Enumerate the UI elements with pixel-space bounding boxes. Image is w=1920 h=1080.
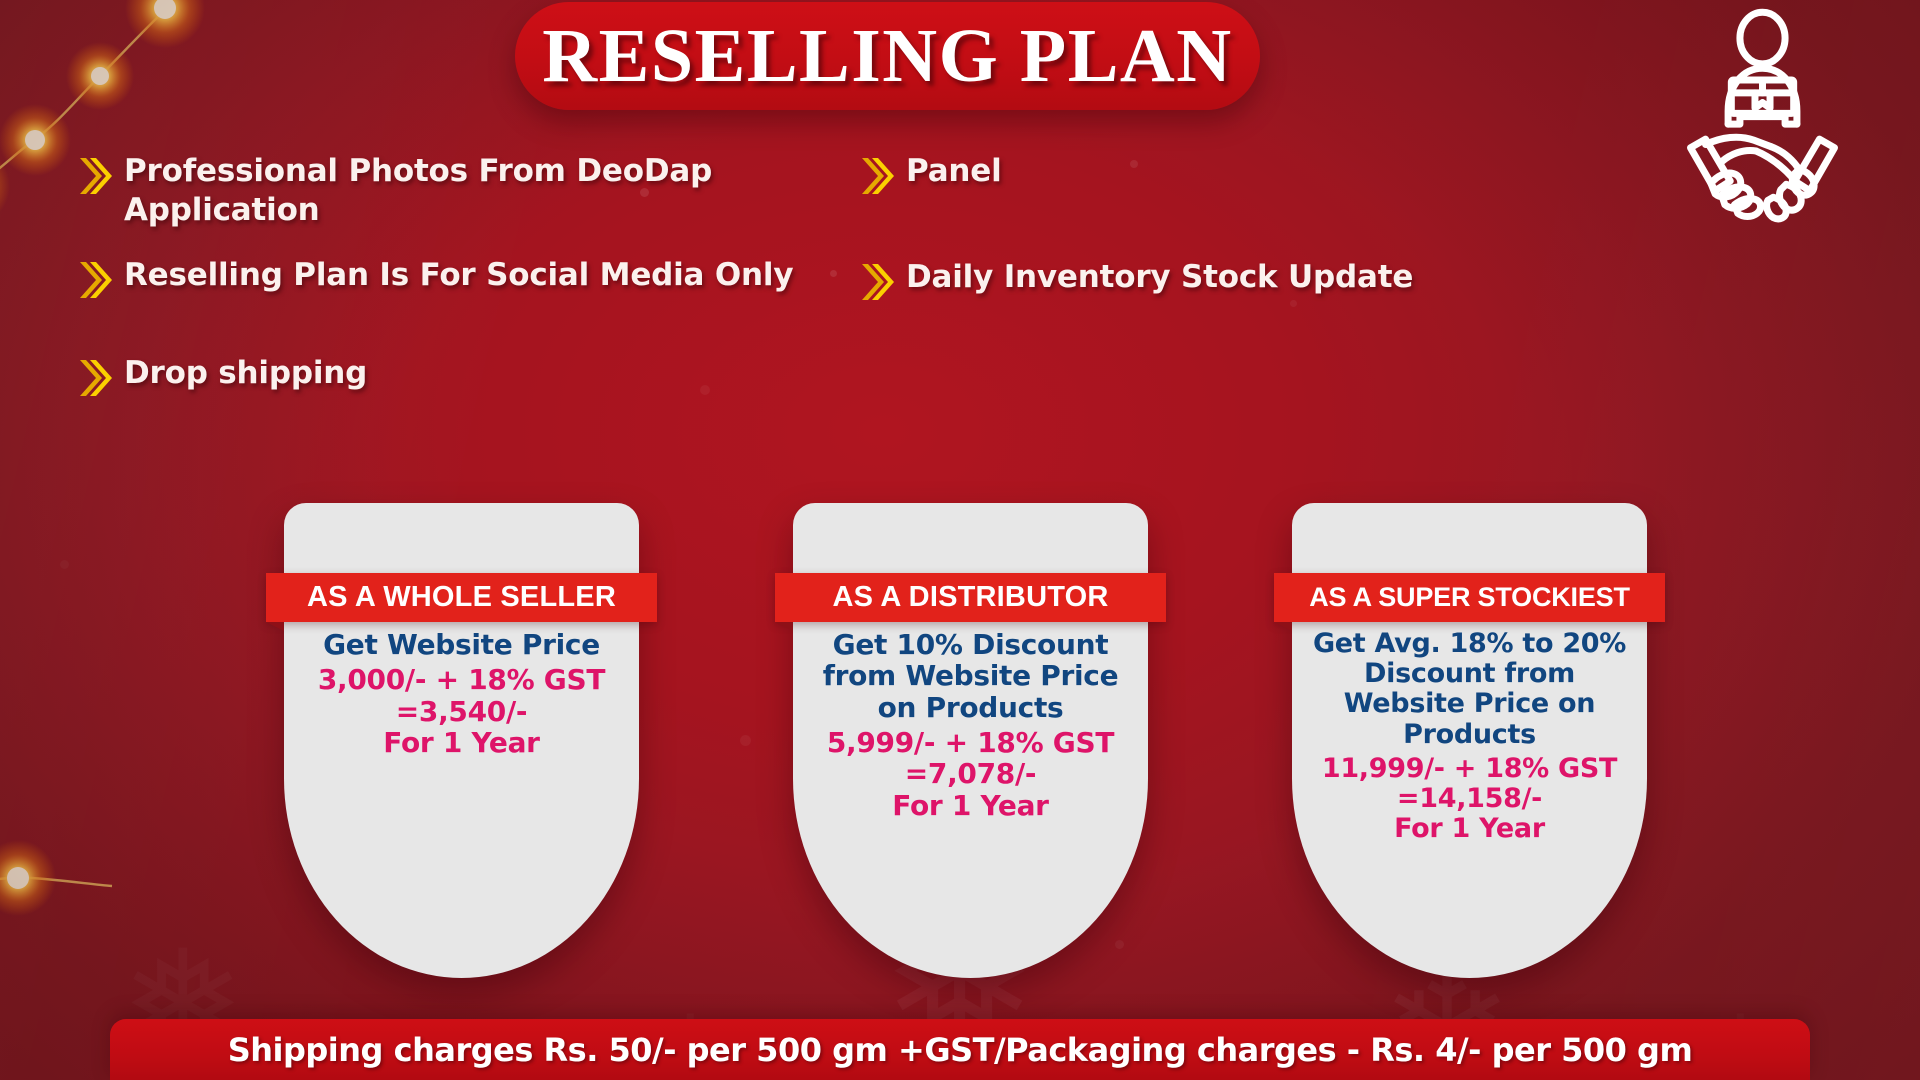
plan-price-line: =7,078/- (803, 758, 1138, 789)
plan-price-line: 11,999/- + 18% GST (1302, 754, 1637, 784)
plan-card-body: Get Avg. 18% to 20% Discount from Websit… (1302, 629, 1637, 845)
plan-price-line: =14,158/- (1302, 784, 1637, 814)
plan-price-line: For 1 Year (803, 790, 1138, 821)
plan-ribbon: AS A WHOLE SELLER (266, 573, 657, 622)
plan-card-whole-seller[interactable]: AS A WHOLE SELLER Get Website Price 3,00… (284, 503, 639, 978)
plan-headline: Get 10% Discount from Website Price on P… (803, 629, 1138, 723)
plan-price-line: 5,999/- + 18% GST (803, 727, 1138, 758)
plan-ribbon-label: AS A SUPER STOCKIEST (1309, 582, 1630, 613)
plan-ribbon: AS A SUPER STOCKIEST (1274, 573, 1665, 622)
plan-card-distributor[interactable]: AS A DISTRIBUTOR Get 10% Discount from W… (793, 503, 1148, 978)
shipping-note: Shipping charges Rs. 50/- per 500 gm +GS… (228, 1031, 1693, 1069)
plan-headline: Get Avg. 18% to 20% Discount from Websit… (1302, 629, 1637, 750)
plan-price-line: 3,000/- + 18% GST (294, 664, 629, 695)
plan-headline: Get Website Price (294, 629, 629, 660)
plan-price-line: For 1 Year (1302, 814, 1637, 844)
plan-price-line: =3,540/- (294, 696, 629, 727)
plan-card-super-stockiest[interactable]: AS A SUPER STOCKIEST Get Avg. 18% to 20%… (1292, 503, 1647, 978)
plan-ribbon: AS A DISTRIBUTOR (775, 573, 1166, 622)
poster-canvas: ❅ ❄ ❅ ❄ ❅ ❄ (0, 0, 1920, 1080)
plan-price-line: For 1 Year (294, 727, 629, 758)
plan-card-body: Get Website Price 3,000/- + 18% GST =3,5… (294, 629, 629, 758)
plan-price: 5,999/- + 18% GST =7,078/- For 1 Year (803, 727, 1138, 821)
plan-price: 3,000/- + 18% GST =3,540/- For 1 Year (294, 664, 629, 758)
plan-ribbon-label: AS A WHOLE SELLER (307, 581, 616, 614)
footer-banner: Shipping charges Rs. 50/- per 500 gm +GS… (110, 1019, 1810, 1080)
plan-ribbon-label: AS A DISTRIBUTOR (832, 581, 1108, 614)
plan-card-body: Get 10% Discount from Website Price on P… (803, 629, 1138, 821)
plan-card-list: AS A WHOLE SELLER Get Website Price 3,00… (0, 0, 1920, 1080)
plan-price: 11,999/- + 18% GST =14,158/- For 1 Year (1302, 754, 1637, 845)
